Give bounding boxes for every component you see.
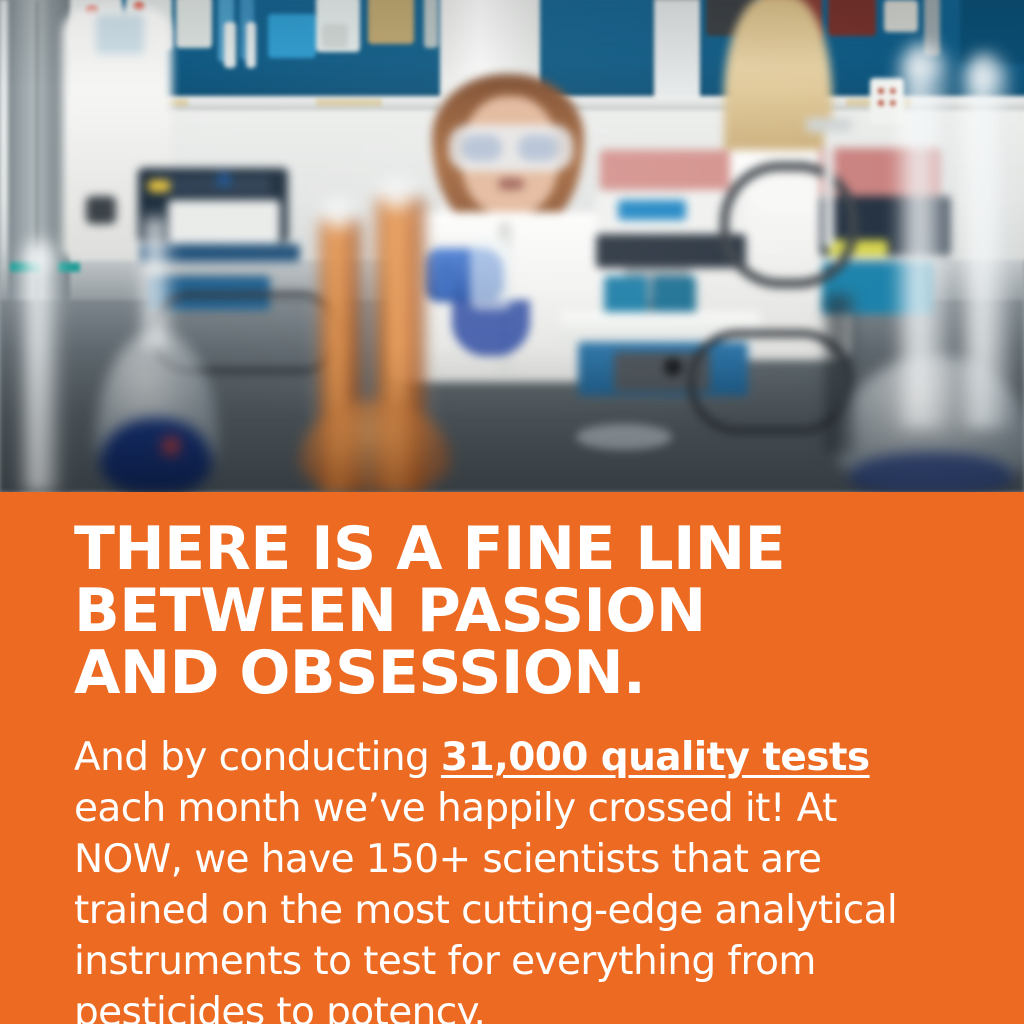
body-text-before: And by conducting bbox=[74, 735, 441, 780]
laboratory-photo bbox=[0, 0, 1024, 492]
amber-cylinder-1-top bbox=[322, 198, 358, 228]
body-text-after: each month we’ve happily crossed it! At … bbox=[74, 786, 897, 1024]
page-title: THERE IS A FINE LINE BETWEEN PASSION AND… bbox=[74, 518, 954, 704]
cylinder-right-1-top bbox=[902, 44, 944, 78]
graduated-cylinder-left bbox=[22, 252, 58, 492]
headline-line-1: THERE IS A FINE LINE bbox=[74, 518, 954, 580]
quality-tests-emphasis: 31,000 quality tests bbox=[441, 735, 870, 780]
amber-cylinder-2-top bbox=[378, 178, 420, 208]
headline-line-3: AND OBSESSION. bbox=[74, 642, 954, 704]
photo-foreground-glassware-layer bbox=[0, 0, 1024, 492]
headline-line-2: BETWEEN PASSION bbox=[74, 580, 954, 642]
orange-text-panel: THERE IS A FINE LINE BETWEEN PASSION AND… bbox=[0, 492, 1024, 1024]
cylinder-right-2-top bbox=[966, 54, 1004, 88]
flask-right-blue-liquid bbox=[848, 452, 1014, 492]
cylinder-left-top bbox=[24, 240, 56, 270]
flask-500-blue-liquid bbox=[100, 418, 212, 492]
body-copy: And by conducting 31,000 quality tests e… bbox=[74, 732, 944, 1024]
flask-500-red-mark bbox=[164, 438, 178, 454]
dark-rack-right bbox=[826, 294, 854, 454]
volumetric-flask-neck-500 bbox=[142, 218, 170, 348]
promo-poster: THERE IS A FINE LINE BETWEEN PASSION AND… bbox=[0, 0, 1024, 1024]
